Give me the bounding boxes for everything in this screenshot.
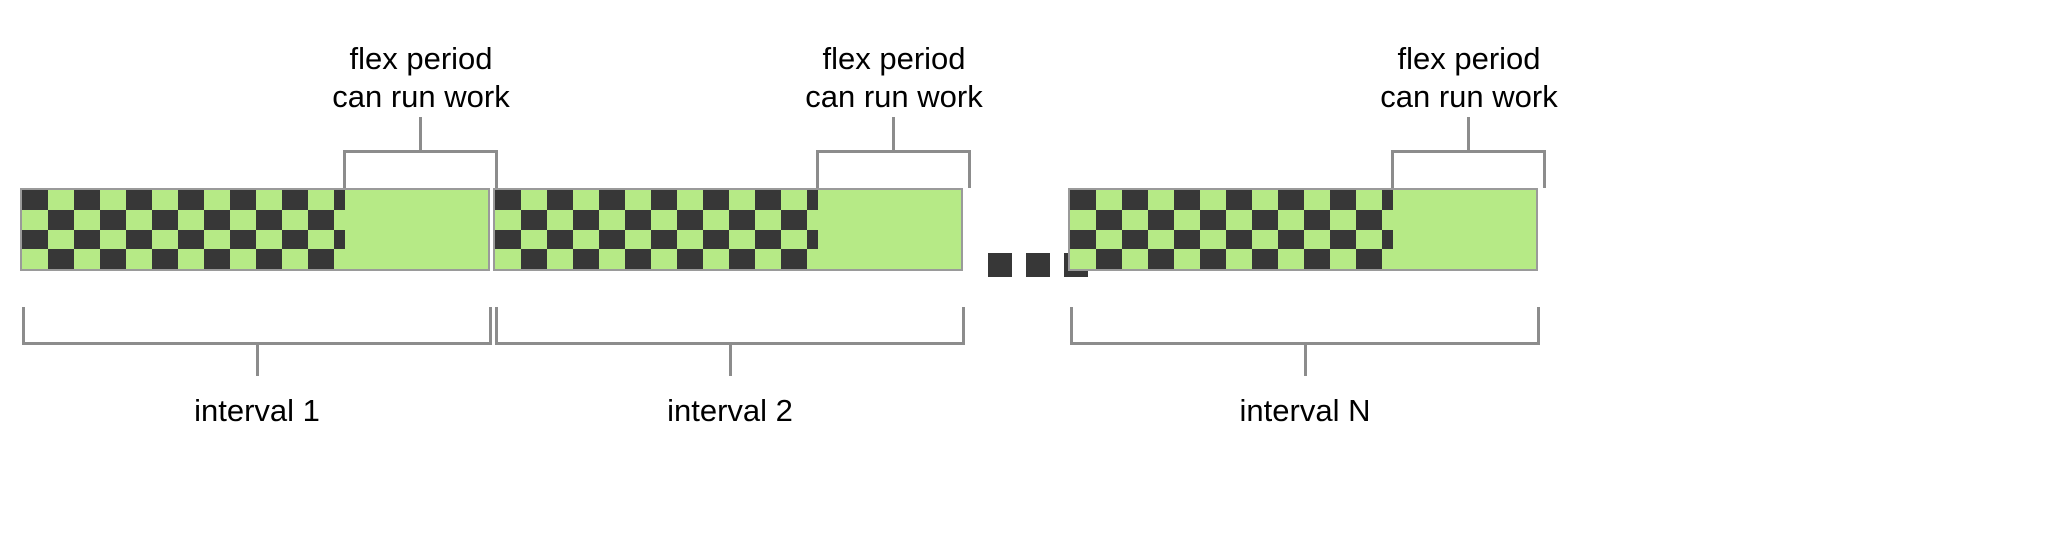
work-block [1096,249,1122,269]
work-block [1070,230,1096,250]
work-block [521,210,547,230]
work-block [204,210,230,230]
work-block [48,249,74,269]
flex-period-bracket-n [1391,150,1546,188]
work-block [495,230,521,250]
work-checker-pattern [22,190,345,269]
diagram-canvas: flex period can run work interval 1 flex… [0,0,2070,552]
work-block [48,210,74,230]
work-block [677,249,703,269]
interval-bracket-1 [22,307,492,345]
work-block [1252,249,1278,269]
work-block [1330,190,1356,210]
work-block [1148,249,1174,269]
work-block [1356,210,1382,230]
work-block [495,190,521,210]
work-block [100,249,126,269]
flex-period-label-line1: flex period [1269,40,1669,78]
work-block [1070,190,1096,210]
work-block [1382,190,1393,210]
work-block [178,190,204,210]
work-block [152,210,178,230]
work-checker-pattern [1070,190,1393,269]
work-block [1330,230,1356,250]
flex-period-label-2: flex period can run work [694,40,1094,116]
checker-row [1070,249,1393,269]
flex-period-label-line2: can run work [221,78,621,116]
interval-bracket-n [1070,307,1540,345]
bracket-stem [892,117,895,153]
work-block [781,249,807,269]
checker-row [495,210,818,230]
flex-period-bracket-2 [816,150,971,188]
work-block [677,210,703,230]
work-block [807,190,818,210]
work-block [178,230,204,250]
checker-row [495,249,818,269]
flex-period-bracket-1 [343,150,498,188]
work-block [807,230,818,250]
checker-row [495,230,818,250]
work-block [126,230,152,250]
checker-row [1070,190,1393,210]
interval-label-2: interval 2 [530,393,930,429]
checker-row [1070,210,1393,230]
bracket-stem [1304,342,1307,376]
work-block [282,190,308,210]
work-block [573,249,599,269]
bracket-stem [256,342,259,376]
work-block [781,210,807,230]
checker-row [1070,230,1393,250]
work-block [1226,190,1252,210]
work-block [1200,249,1226,269]
work-block [256,249,282,269]
ellipsis-dot [1026,253,1050,277]
checker-row [495,190,818,210]
work-block [1148,210,1174,230]
bracket-stem [1467,117,1470,153]
checker-row [22,210,345,230]
work-block [729,249,755,269]
work-block [625,249,651,269]
work-block [703,230,729,250]
work-block [729,210,755,230]
work-block [230,190,256,210]
work-block [282,230,308,250]
work-block [1356,249,1382,269]
work-block [100,210,126,230]
interval-label-n: interval N [1105,393,1505,429]
work-block [256,210,282,230]
work-block [1304,210,1330,230]
work-block [1382,230,1393,250]
flex-period-label-line2: can run work [1269,78,1669,116]
checker-row [22,249,345,269]
work-block [308,210,334,230]
work-block [74,190,100,210]
work-block [126,190,152,210]
work-block [1200,210,1226,230]
work-block [651,230,677,250]
work-block [599,190,625,210]
flex-period-label-1: flex period can run work [221,40,621,116]
interval-bar-2 [493,188,963,271]
work-block [308,249,334,269]
flex-period-label-line2: can run work [694,78,1094,116]
work-block [1096,210,1122,230]
work-block [599,230,625,250]
work-block [755,190,781,210]
work-block [573,210,599,230]
work-block [547,230,573,250]
work-block [1122,190,1148,210]
work-block [755,230,781,250]
interval-bar-n [1068,188,1538,271]
flex-period-label-line1: flex period [694,40,1094,78]
flex-period-label-line1: flex period [221,40,621,78]
work-block [334,230,345,250]
interval-bracket-2 [495,307,965,345]
bracket-stem [419,117,422,153]
work-block [547,190,573,210]
work-block [1226,230,1252,250]
work-block [230,230,256,250]
checker-row [22,190,345,210]
work-block [1304,249,1330,269]
work-block [334,190,345,210]
work-block [1174,190,1200,210]
work-block [1122,230,1148,250]
interval-bar-1 [20,188,490,271]
flex-period-label-n: flex period can run work [1269,40,1669,116]
ellipsis-dot [988,253,1012,277]
checker-row [22,230,345,250]
work-block [1278,230,1304,250]
work-block [703,190,729,210]
interval-label-1: interval 1 [57,393,457,429]
work-block [651,190,677,210]
work-block [22,230,48,250]
work-checker-pattern [495,190,818,269]
work-block [22,190,48,210]
work-block [152,249,178,269]
bracket-stem [729,342,732,376]
work-block [1174,230,1200,250]
work-block [74,230,100,250]
work-block [1278,190,1304,210]
work-block [521,249,547,269]
work-block [625,210,651,230]
work-block [204,249,230,269]
work-block [1252,210,1278,230]
